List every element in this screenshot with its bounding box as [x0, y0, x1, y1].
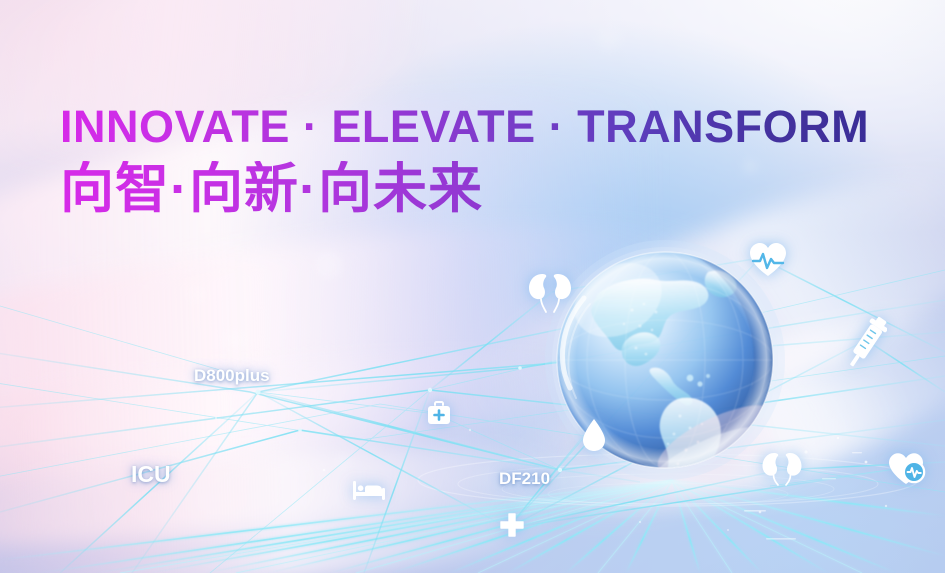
label-icu: ICU [131, 461, 171, 488]
medical-bag-icon [426, 401, 452, 427]
heart-pulse-icon [748, 242, 788, 278]
hero-banner: D800plus ICU DF210 INNOVATE · ELEVATE · … [0, 0, 945, 573]
syringe-icon [845, 314, 887, 374]
headline-block: INNOVATE · ELEVATE · TRANSFORM 向智·向新·向未来 [60, 104, 869, 218]
headline-english: INNOVATE · ELEVATE · TRANSFORM [60, 104, 869, 149]
kidneys-icon [526, 270, 574, 316]
label-d800plus: D800plus [194, 366, 270, 386]
hospital-bed-icon [352, 479, 386, 501]
medical-cross-icon [500, 513, 524, 537]
kidneys-icon [760, 450, 804, 486]
heart-ecg-icon [888, 452, 926, 486]
label-df210: DF210 [499, 469, 550, 489]
network-lines-thin [0, 270, 945, 573]
water-drop-icon [580, 418, 608, 452]
headline-chinese: 向智·向新·向未来 [60, 161, 869, 218]
